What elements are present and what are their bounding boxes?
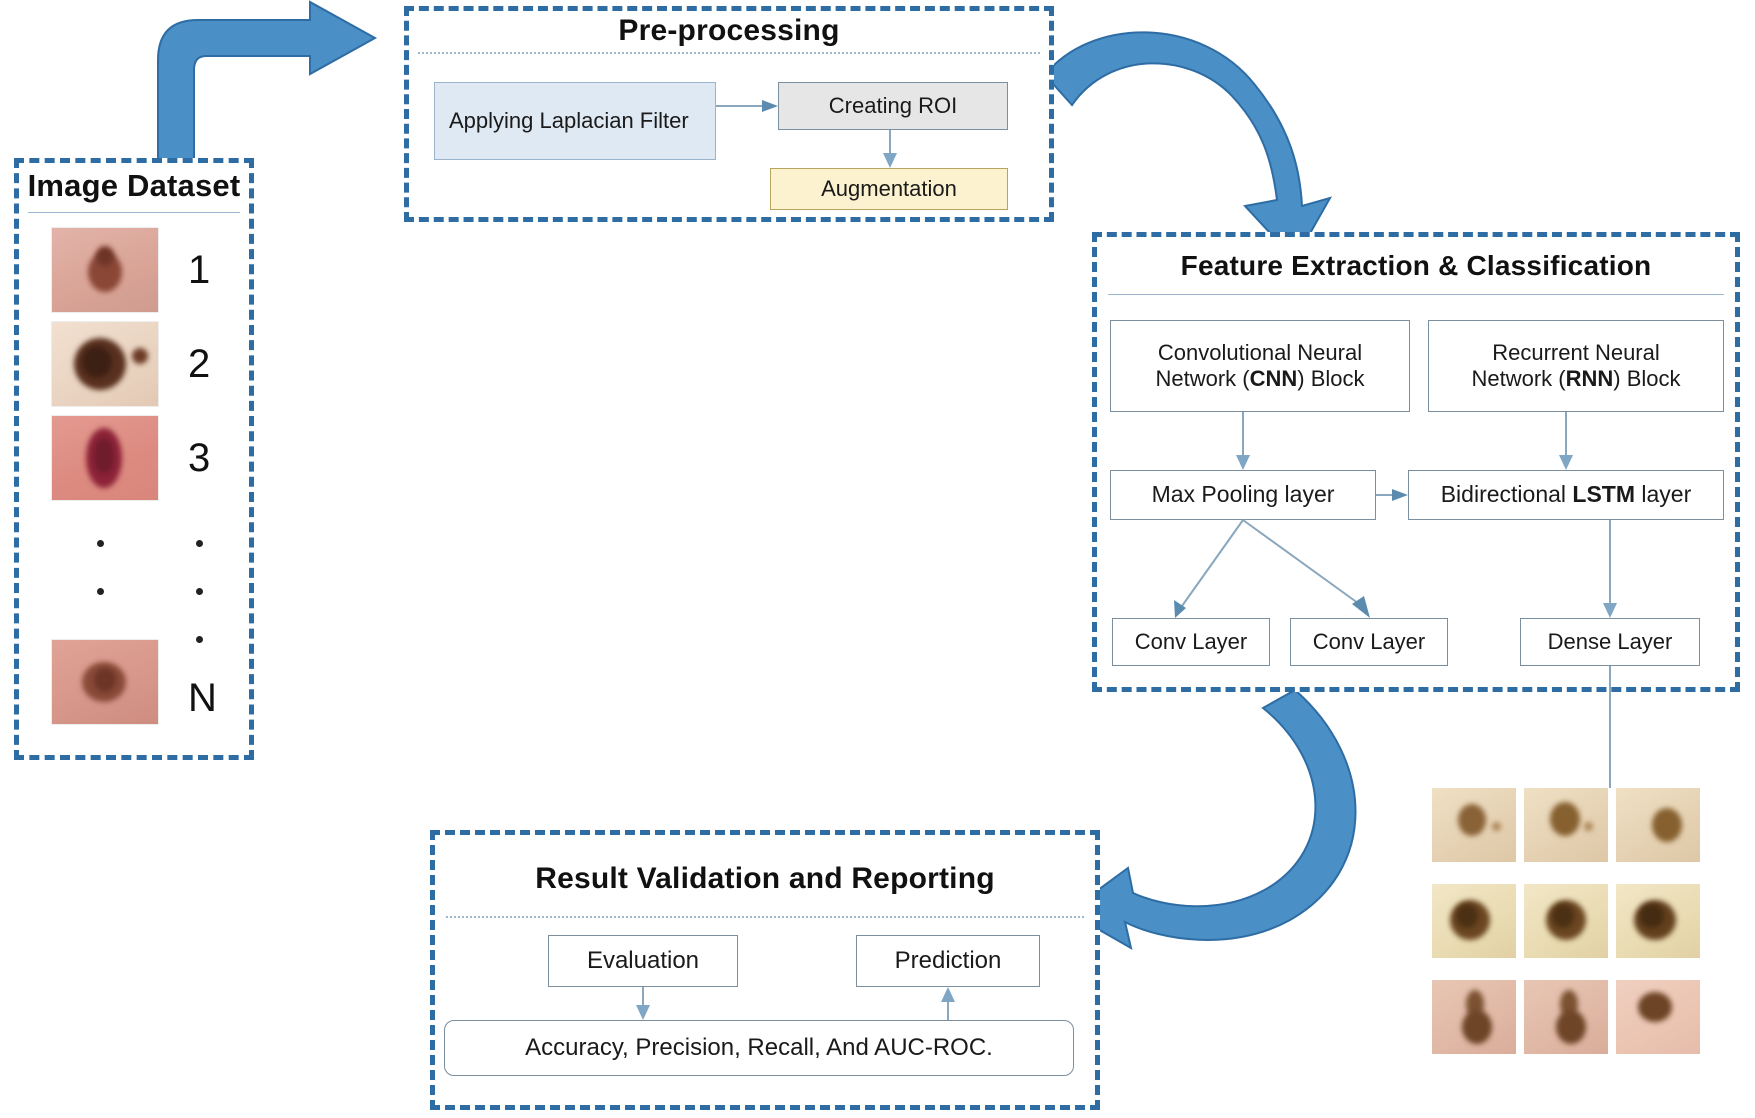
augmentation-label: Augmentation [821, 176, 957, 202]
conv-layer-left-box[interactable]: Conv Layer [1112, 618, 1270, 666]
output-grid-cell [1616, 788, 1700, 862]
dataset-thumbnail-3 [52, 416, 158, 500]
conv-layer-right-box[interactable]: Conv Layer [1290, 618, 1448, 666]
bidirectional-lstm-layer-box[interactable]: Bidirectional LSTM layer [1408, 470, 1724, 520]
evaluation-label: Evaluation [587, 947, 699, 975]
output-image-grid [1432, 788, 1700, 1074]
dataset-index-2: 2 [188, 342, 210, 387]
creating-roi-box[interactable]: Creating ROI [778, 82, 1008, 130]
dataset-index-n: N [188, 676, 217, 721]
prediction-label: Prediction [895, 947, 1002, 975]
result-validation-title: Result Validation and Reporting [430, 862, 1100, 896]
rnn-block-label: Recurrent Neural Network (RNN) Block [1471, 340, 1680, 392]
metrics-label: Accuracy, Precision, Recall, And AUC-ROC… [525, 1034, 993, 1062]
dataset-ellipsis-dot [196, 636, 203, 643]
diagram-canvas: Image Dataset 1 2 3 N Pre-processing App… [0, 0, 1755, 1118]
conv-layer-right-label: Conv Layer [1313, 629, 1426, 655]
dataset-ellipsis-dot [196, 588, 203, 595]
output-grid-cell [1524, 788, 1608, 862]
output-grid-cell [1432, 980, 1516, 1054]
image-dataset-title: Image Dataset [14, 168, 254, 204]
augmentation-box[interactable]: Augmentation [770, 168, 1008, 210]
feature-extraction-rule [1108, 294, 1724, 295]
dataset-ellipsis-dot [97, 540, 104, 547]
image-dataset-rule [28, 212, 240, 213]
result-validation-rule [446, 916, 1084, 918]
dense-layer-box[interactable]: Dense Layer [1520, 618, 1700, 666]
cnn-block-box[interactable]: Convolutional Neural Network (CNN) Block [1110, 320, 1410, 412]
dense-layer-label: Dense Layer [1548, 629, 1673, 655]
dataset-thumbnail-n [52, 640, 158, 724]
output-grid-cell [1524, 980, 1608, 1054]
evaluation-box[interactable]: Evaluation [548, 935, 738, 987]
metrics-box[interactable]: Accuracy, Precision, Recall, And AUC-ROC… [444, 1020, 1074, 1076]
dataset-thumbnail-2 [52, 322, 158, 406]
max-pooling-layer-box[interactable]: Max Pooling layer [1110, 470, 1376, 520]
dataset-ellipsis-dot [97, 588, 104, 595]
prediction-box[interactable]: Prediction [856, 935, 1040, 987]
dataset-index-1: 1 [188, 248, 210, 293]
output-grid-cell [1616, 980, 1700, 1054]
dataset-ellipsis-dot [196, 540, 203, 547]
applying-laplacian-filter-box[interactable]: Applying Laplacian Filter [434, 82, 716, 160]
output-grid-cell [1432, 884, 1516, 958]
bidirectional-lstm-layer-label: Bidirectional LSTM layer [1441, 481, 1692, 508]
creating-roi-label: Creating ROI [829, 93, 957, 119]
conv-layer-left-label: Conv Layer [1135, 629, 1248, 655]
preprocessing-title: Pre-processing [404, 14, 1054, 48]
feature-extraction-title: Feature Extraction & Classification [1092, 250, 1740, 282]
preprocessing-rule [418, 52, 1040, 54]
output-grid-cell [1524, 884, 1608, 958]
cnn-block-label: Convolutional Neural Network (CNN) Block [1155, 340, 1364, 392]
dataset-index-3: 3 [188, 436, 210, 481]
dataset-thumbnail-1 [52, 228, 158, 312]
max-pooling-layer-label: Max Pooling layer [1152, 481, 1335, 508]
applying-laplacian-filter-label: Applying Laplacian Filter [449, 108, 689, 134]
output-grid-cell [1432, 788, 1516, 862]
rnn-block-box[interactable]: Recurrent Neural Network (RNN) Block [1428, 320, 1724, 412]
output-grid-cell [1616, 884, 1700, 958]
